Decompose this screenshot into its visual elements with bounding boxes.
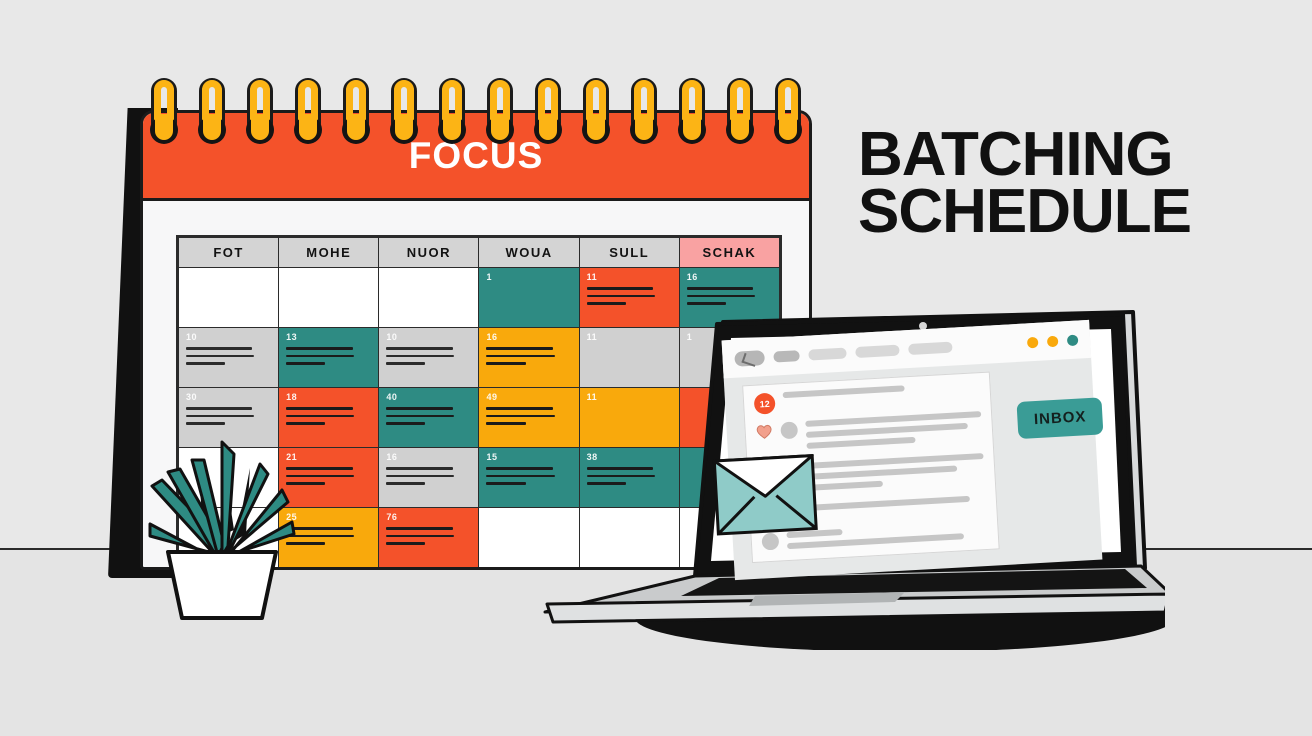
avatar: [761, 533, 779, 551]
calendar-day-header: WOUA: [479, 238, 579, 268]
text-line: [783, 385, 905, 398]
calendar-event-lines: [286, 347, 371, 365]
list-item-lines: [783, 381, 980, 403]
calendar-day-cell[interactable]: 16: [379, 448, 479, 508]
calendar-day-header-row: FOTMOHENUORWOUASULLSCHAK: [179, 238, 780, 268]
event-line: [587, 287, 653, 290]
text-line: [806, 437, 915, 449]
event-line: [186, 355, 254, 358]
calendar-event-lines: [386, 407, 471, 425]
calendar-day-cell[interactable]: [379, 268, 479, 328]
calendar-header-band: FOCUS: [143, 113, 809, 201]
event-line: [286, 362, 325, 365]
event-line: [587, 295, 655, 298]
page-title: BATCHING SCHEDULE: [858, 126, 1278, 240]
calendar-title: FOCUS: [409, 135, 544, 177]
list-item[interactable]: 12: [754, 381, 981, 415]
illustration-scene: BATCHING SCHEDULE FOCUS FOTMOHENUORWOUAS…: [0, 0, 1312, 736]
calendar-day-number: 16: [386, 453, 471, 462]
event-line: [386, 542, 425, 545]
calendar-day-number: 16: [687, 273, 772, 282]
toolbar-pill-4[interactable]: [908, 341, 953, 354]
calendar-event-lines: [286, 407, 371, 425]
calendar-day-header: SULL: [579, 238, 679, 268]
event-line: [386, 362, 425, 365]
calendar-day-number: 10: [386, 333, 471, 342]
calendar-event-lines: [186, 347, 271, 365]
calendar-day-number: 10: [186, 333, 271, 342]
calendar-day-header: FOT: [179, 238, 279, 268]
event-line: [386, 407, 452, 410]
event-line: [687, 287, 753, 290]
status-dot-3[interactable]: [1067, 334, 1079, 346]
event-line: [386, 415, 454, 418]
event-line: [186, 407, 252, 410]
event-line: [186, 415, 254, 418]
succulent-plant-icon: [142, 424, 302, 620]
notification-badge: 12: [754, 393, 776, 415]
event-line: [386, 527, 452, 530]
calendar-day-cell[interactable]: 10: [179, 328, 279, 388]
calendar-event-lines: [386, 527, 471, 545]
event-line: [386, 467, 452, 470]
calendar-day-number: 40: [386, 393, 471, 402]
envelope-icon: [712, 453, 818, 536]
calendar-day-cell[interactable]: 40: [379, 388, 479, 448]
event-line: [286, 355, 354, 358]
calendar-day-cell[interactable]: [279, 268, 379, 328]
status-dot-1[interactable]: [1027, 336, 1039, 348]
calendar-event-lines: [386, 347, 471, 365]
calendar-event-lines: [386, 467, 471, 485]
event-line: [186, 362, 225, 365]
toolbar-pill-2[interactable]: [808, 347, 847, 360]
calendar-event-lines: [186, 407, 271, 425]
calendar-day-number: 1: [486, 273, 571, 282]
event-line: [386, 535, 454, 538]
calendar-day-number: 11: [587, 273, 672, 282]
calendar-day-number: 76: [386, 513, 471, 522]
event-line: [386, 347, 452, 350]
toolbar-spacer: [961, 343, 1018, 346]
calendar-day-number: 30: [186, 393, 271, 402]
list-item[interactable]: [755, 411, 982, 457]
event-line: [386, 355, 454, 358]
calendar-day-cell[interactable]: 76: [379, 508, 479, 568]
calendar-day-header: NUOR: [379, 238, 479, 268]
inbox-badge[interactable]: INBOX: [1017, 397, 1103, 439]
event-line: [286, 347, 352, 350]
back-arrow-icon[interactable]: [734, 350, 765, 367]
event-line: [286, 415, 354, 418]
calendar-day-header: MOHE: [279, 238, 379, 268]
calendar-day-cell[interactable]: 10: [379, 328, 479, 388]
event-line: [286, 407, 352, 410]
avatar: [780, 421, 798, 439]
status-dot-2[interactable]: [1047, 335, 1059, 347]
title-line-2: SCHEDULE: [858, 183, 1278, 240]
event-line: [386, 482, 425, 485]
calendar-day-cell[interactable]: 13: [279, 328, 379, 388]
list-item-lines: [805, 411, 983, 454]
toolbar-pill-3[interactable]: [855, 344, 900, 357]
event-line: [186, 347, 252, 350]
calendar-day-number: 18: [286, 393, 371, 402]
calendar-day-number: 13: [286, 333, 371, 342]
event-line: [386, 475, 454, 478]
event-line: [687, 295, 755, 298]
laptop-screen-ui: 12: [722, 320, 1103, 580]
toolbar-pill-1[interactable]: [773, 350, 800, 362]
calendar-day-cell[interactable]: [179, 268, 279, 328]
heart-icon: [755, 423, 773, 440]
event-line: [386, 422, 425, 425]
calendar-day-header: SCHAK: [679, 238, 779, 268]
